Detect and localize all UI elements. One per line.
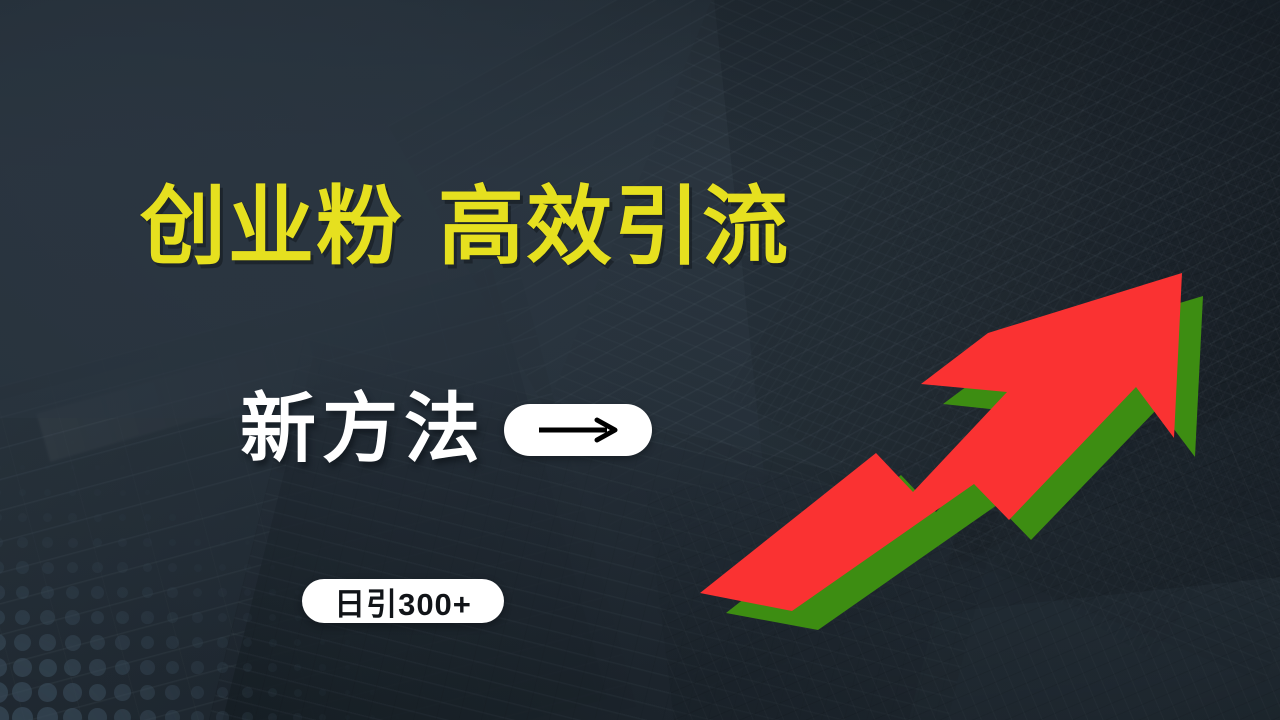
growth-arrow-graphic xyxy=(680,245,1210,625)
status-badge: 日引300+ xyxy=(302,579,504,623)
page-title: 创业粉高效引流 xyxy=(140,182,790,273)
headline-part-2: 高效引流 xyxy=(438,179,790,275)
poster-canvas: 创业粉高效引流 新方法 日引300+ xyxy=(0,0,1280,720)
arrow-right-icon xyxy=(535,417,621,443)
subheading-text: 新方法 xyxy=(240,392,486,468)
headline-part-1: 创业粉 xyxy=(140,179,404,275)
subheading-row: 新方法 xyxy=(240,392,652,468)
arrow-right-pill-button[interactable] xyxy=(504,404,652,456)
